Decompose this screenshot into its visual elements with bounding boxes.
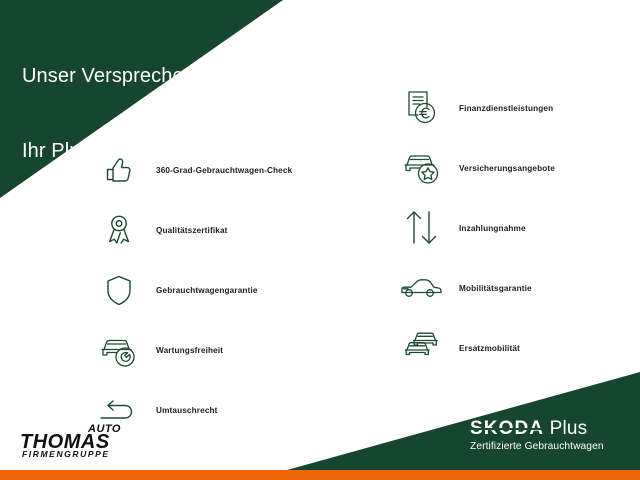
up-down-arrows-icon	[395, 204, 449, 252]
skoda-plus-text: Plus	[544, 418, 587, 439]
promo-banner: Unser Versprechen. Ihr Plus. 360-Grad-Ge…	[0, 0, 640, 480]
headline-line-1: Unser Versprechen.	[22, 64, 201, 89]
document-euro-icon	[395, 84, 449, 132]
car-wrench-icon	[92, 326, 146, 374]
feature-label: Mobilitätsgarantie	[449, 283, 532, 294]
feature-label: Finanzdienstleistungen	[449, 103, 553, 114]
skoda-mark-text: SKODA	[470, 418, 544, 440]
feature-item: Finanzdienstleistungen	[395, 78, 640, 138]
logo-bottom-word: FIRMENGRUPPE	[22, 449, 110, 459]
skoda-plus-wordmark: SKODA Plus	[470, 418, 626, 440]
car-star-icon	[395, 144, 449, 192]
feature-item: Inzahlungnahme	[395, 198, 640, 258]
feature-label: Umtauschrecht	[146, 405, 218, 416]
feature-list-left: 360-Grad-Gebrauchtwagen-Check Qualitätsz…	[92, 140, 342, 440]
feature-item: Wartungsfreiheit	[92, 320, 342, 380]
feature-label: Ersatzmobilität	[449, 343, 520, 354]
feature-label: 360-Grad-Gebrauchtwagen-Check	[146, 165, 292, 176]
feature-label: Versicherungsangebote	[449, 163, 555, 174]
thumbs-up-icon	[92, 146, 146, 194]
feature-item: Qualitätszertifikat	[92, 200, 342, 260]
shield-icon	[92, 266, 146, 314]
quality-rosette-icon	[92, 206, 146, 254]
feature-item: Gebrauchtwagengarantie	[92, 260, 342, 320]
feature-label: Qualitätszertifikat	[146, 225, 228, 236]
feature-label: Wartungsfreiheit	[146, 345, 223, 356]
skoda-plus-logo: SKODA Plus Zertifizierte Gebrauchtwagen	[470, 418, 626, 460]
feature-list-right: Finanzdienstleistungen Versicherungsange…	[395, 78, 640, 378]
feature-item: Ersatzmobilität	[395, 318, 640, 378]
car-side-icon	[395, 264, 449, 312]
feature-label: Gebrauchtwagengarantie	[146, 285, 258, 296]
skoda-plus-subtitle: Zertifizierte Gebrauchtwagen	[470, 440, 626, 454]
feature-item: 360-Grad-Gebrauchtwagen-Check	[92, 140, 342, 200]
feature-item: Versicherungsangebote	[395, 138, 640, 198]
auto-thomas-logo-graphic: AUTO THOMAS FIRMENGRUPPE	[16, 420, 132, 460]
orange-bottom-bar	[0, 470, 640, 480]
two-cars-icon	[395, 324, 449, 372]
feature-label: Inzahlungnahme	[449, 223, 526, 234]
feature-item: Mobilitätsgarantie	[395, 258, 640, 318]
auto-thomas-firmengruppe-logo: AUTO THOMAS FIRMENGRUPPE	[16, 420, 132, 460]
